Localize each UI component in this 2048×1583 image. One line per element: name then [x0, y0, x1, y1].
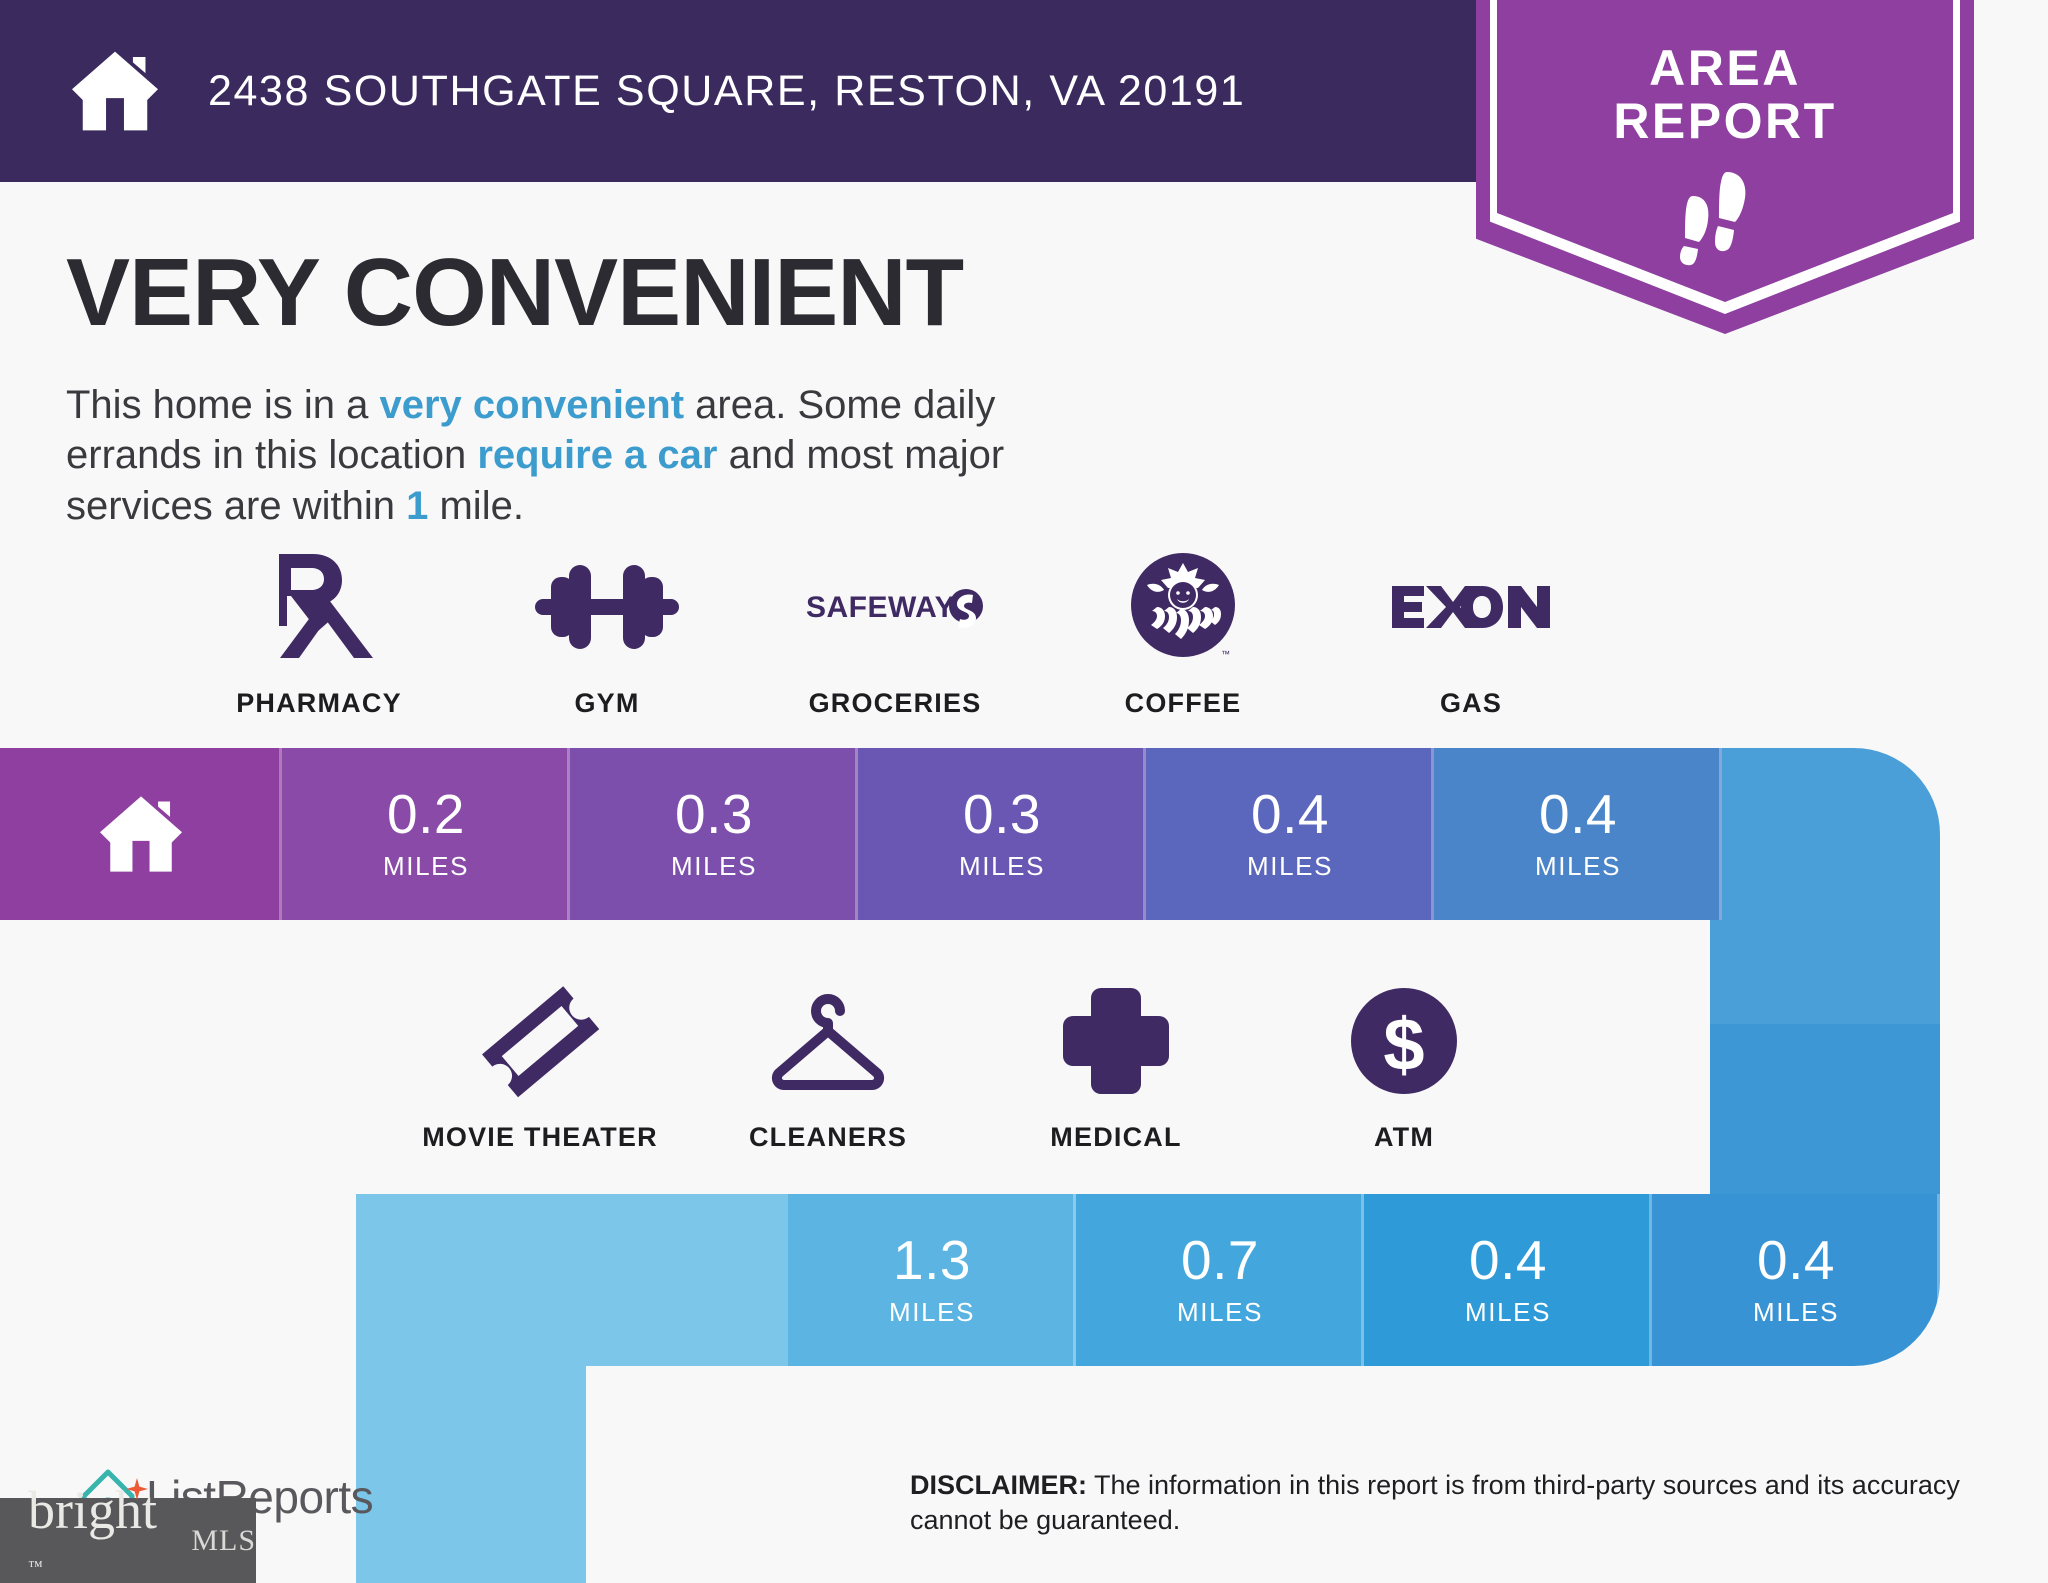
mls-text: MLS: [191, 1524, 256, 1558]
lede-highlight-2: require a car: [477, 433, 717, 477]
distance-unit: MILES: [383, 851, 469, 882]
distance-cell-cleaners: 0.7 MILES: [1076, 1194, 1364, 1366]
distance-cell-coffee: 0.4 MILES: [1146, 748, 1434, 920]
badge-line-1: AREA: [1476, 42, 1974, 95]
distance-value: 0.4: [1539, 787, 1617, 842]
row1-icon-strip: PHARMACY GYM SAFEWAY: [175, 548, 1615, 719]
category-label: GAS: [1440, 688, 1502, 719]
lede-part-1: This home is in a: [66, 383, 379, 427]
distance-value: 0.3: [675, 787, 753, 842]
distance-value: 1.3: [893, 1233, 971, 1288]
category-label: GYM: [574, 688, 639, 719]
distance-cell-gym: 0.3 MILES: [570, 748, 858, 920]
distance-unit: MILES: [1247, 851, 1333, 882]
category-groceries: SAFEWAY GROCERIES: [751, 548, 1039, 719]
footprints-icon: [1665, 170, 1785, 266]
area-report-badge: AREA REPORT: [1476, 0, 1974, 334]
distance-cell-medical: 0.4 MILES: [1364, 1194, 1652, 1366]
distance-unit: MILES: [889, 1297, 975, 1328]
ribbon-connector-right-lower: [1710, 1024, 1940, 1198]
distance-value: 0.2: [387, 787, 465, 842]
svg-text:SAFEWAY: SAFEWAY: [806, 591, 955, 624]
category-label: PHARMACY: [236, 688, 402, 719]
category-gas: GAS: [1327, 548, 1615, 719]
distance-unit: MILES: [1535, 851, 1621, 882]
badge-line-2: REPORT: [1476, 95, 1974, 148]
category-gym: GYM: [463, 548, 751, 719]
distance-unit: MILES: [1465, 1297, 1551, 1328]
segment-divider: [1937, 1194, 1940, 1366]
bright-star-icon: [124, 1477, 150, 1503]
distance-unit: MILES: [1177, 1297, 1263, 1328]
home-icon: [98, 793, 184, 875]
property-address: 2438 SOUTHGATE SQUARE, RESTON, VA 20191: [208, 67, 1245, 116]
lede-highlight-3: 1: [406, 484, 428, 528]
ribbon-tail-right: [1722, 748, 1940, 920]
distance-cell-groceries: 0.3 MILES: [858, 748, 1146, 920]
distance-unit: MILES: [671, 851, 757, 882]
header-bar: 2438 SOUTHGATE SQUARE, RESTON, VA 20191: [0, 0, 1490, 182]
distance-value: 0.4: [1469, 1233, 1547, 1288]
ribbon-lead-left: [356, 1194, 788, 1366]
page-title: VERY CONVENIENT: [66, 238, 963, 348]
category-label: COFFEE: [1125, 688, 1242, 719]
distance-cell-gas: 0.4 MILES: [1434, 748, 1722, 920]
category-label: GROCERIES: [809, 688, 982, 719]
category-pharmacy: PHARMACY: [175, 548, 463, 719]
disclaimer: DISCLAIMER: The information in this repo…: [910, 1468, 1990, 1538]
distance-value: 0.4: [1757, 1233, 1835, 1288]
distance-cell-movie-theater: 1.3 MILES: [788, 1194, 1076, 1366]
distance-value: 0.7: [1181, 1233, 1259, 1288]
disclaimer-label: DISCLAIMER:: [910, 1470, 1087, 1500]
starbucks-logo: ™: [1127, 548, 1239, 666]
trademark-symbol: ™: [28, 1559, 43, 1575]
rx-icon: [265, 548, 373, 666]
summary-text: This home is in a very convenient area. …: [66, 380, 1126, 531]
distance-value: 0.3: [963, 787, 1041, 842]
dumbbell-icon: [535, 548, 679, 666]
distance-bar-row-2: 1.3 MILES 0.7 MILES 0.4 MILES 0.4 MILES: [356, 1194, 1940, 1366]
lede-highlight-1: very convenient: [379, 383, 684, 427]
badge-title: AREA REPORT: [1476, 42, 1974, 148]
bright-wordmark: bright ™: [28, 1479, 181, 1583]
area-report-page: 2438 SOUTHGATE SQUARE, RESTON, VA 20191 …: [0, 0, 2048, 1583]
category-coffee: ™ COFFEE: [1039, 548, 1327, 719]
exxon-logo: [1390, 548, 1552, 666]
distance-bar-row-1: 0.2 MILES 0.3 MILES 0.3 MILES 0.4 MILES …: [0, 748, 1940, 920]
distance-cell-atm: 0.4 MILES: [1652, 1194, 1940, 1366]
house-icon: [70, 48, 160, 134]
ribbon-connector-left: [356, 1364, 586, 1583]
bright-mls-watermark: bright ™ MLS: [0, 1498, 256, 1583]
distance-ribbon: 0.2 MILES 0.3 MILES 0.3 MILES 0.4 MILES …: [0, 748, 2048, 1368]
distance-value: 0.4: [1251, 787, 1329, 842]
lede-part-4: mile.: [428, 484, 524, 528]
home-marker-cell: [0, 748, 282, 920]
distance-unit: MILES: [1753, 1297, 1839, 1328]
distance-unit: MILES: [959, 851, 1045, 882]
safeway-logo: SAFEWAY: [806, 548, 984, 666]
distance-cell-pharmacy: 0.2 MILES: [282, 748, 570, 920]
svg-text:™: ™: [1221, 649, 1230, 659]
